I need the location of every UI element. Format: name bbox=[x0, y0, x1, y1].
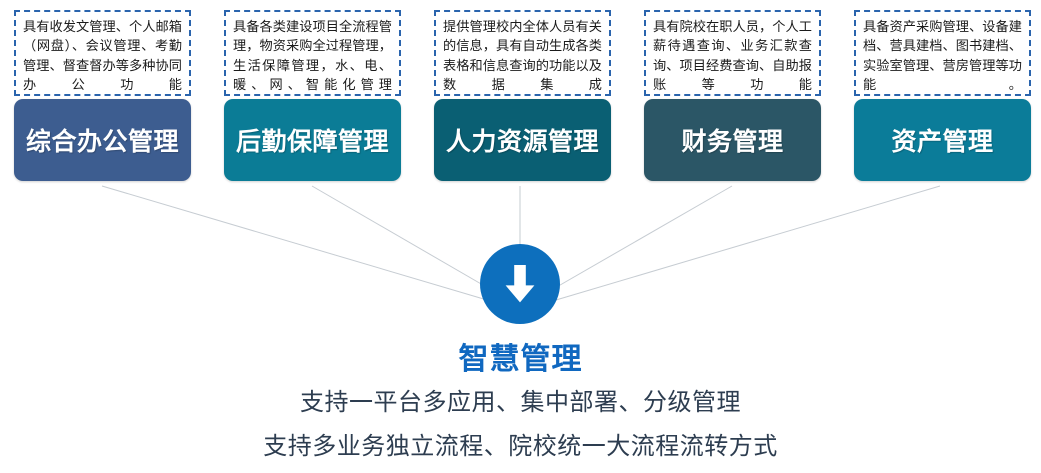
module-card-comprehensive-office[interactable]: 具有收发文管理、个人邮箱（网盘）、会议管理、考勤管理、督查督办等多种协同办公功能… bbox=[14, 10, 191, 182]
connector-line-1 bbox=[102, 186, 487, 300]
connector-line-4 bbox=[548, 186, 732, 292]
down-arrow-icon bbox=[500, 263, 540, 305]
module-description: 提供管理校内全体人员有关的信息，具有自动生成各类表格和信息查询的功能以及数据集成 bbox=[434, 10, 611, 96]
module-title[interactable]: 资产管理 bbox=[854, 99, 1031, 181]
module-title[interactable]: 人力资源管理 bbox=[434, 99, 611, 181]
module-title[interactable]: 财务管理 bbox=[644, 99, 821, 181]
connector-line-2 bbox=[312, 186, 495, 292]
module-description: 具备资产采购管理、设备建档、营具建档、图书建档、实验室管理、营房管理等功能。 bbox=[854, 10, 1031, 96]
hub-title: 智慧管理 bbox=[0, 334, 1041, 378]
connector-line-5 bbox=[556, 186, 940, 300]
hub-circle[interactable] bbox=[480, 244, 560, 324]
module-card-finance[interactable]: 具有院校在职人员，个人工薪待遇查询、业务汇款查询、项目经费查询、自助报账等功能 … bbox=[644, 10, 821, 182]
module-title[interactable]: 后勤保障管理 bbox=[224, 99, 401, 181]
module-description: 具有院校在职人员，个人工薪待遇查询、业务汇款查询、项目经费查询、自助报账等功能 bbox=[644, 10, 821, 96]
module-description: 具备各类建设项目全流程管理，物资采购全过程管理，生活保障管理，水、电、暖、网、智… bbox=[224, 10, 401, 96]
module-title[interactable]: 综合办公管理 bbox=[14, 99, 191, 181]
module-card-assets[interactable]: 具备资产采购管理、设备建档、营具建档、图书建档、实验室管理、营房管理等功能。 资… bbox=[854, 10, 1031, 182]
diagram-canvas: 具有收发文管理、个人邮箱（网盘）、会议管理、考勤管理、督查督办等多种协同办公功能… bbox=[0, 0, 1041, 473]
hub-subtitle-line-2: 支持多业务独立流程、院校统一大流程流转方式 bbox=[0, 426, 1041, 461]
module-description: 具有收发文管理、个人邮箱（网盘）、会议管理、考勤管理、督查督办等多种协同办公功能 bbox=[14, 10, 191, 96]
module-card-human-resources[interactable]: 提供管理校内全体人员有关的信息，具有自动生成各类表格和信息查询的功能以及数据集成… bbox=[434, 10, 611, 182]
hub-subtitle-line-1: 支持一平台多应用、集中部署、分级管理 bbox=[0, 382, 1041, 417]
module-card-logistics-support[interactable]: 具备各类建设项目全流程管理，物资采购全过程管理，生活保障管理，水、电、暖、网、智… bbox=[224, 10, 401, 182]
